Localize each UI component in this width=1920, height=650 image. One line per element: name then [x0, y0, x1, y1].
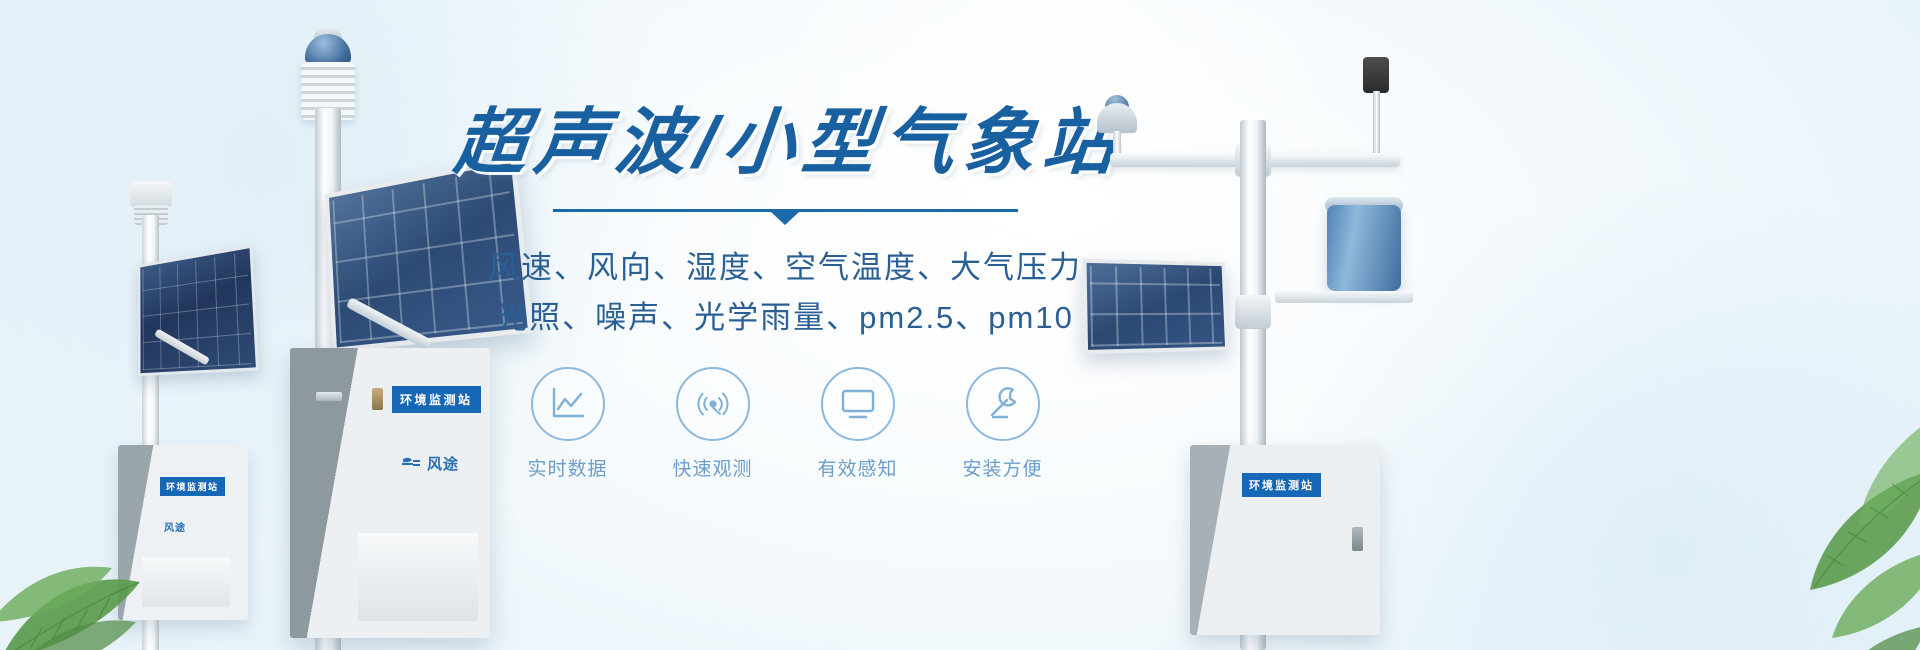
fengtu-logo-icon	[400, 456, 422, 471]
feature-label: 实时数据	[513, 454, 623, 481]
line-chart-icon	[548, 385, 588, 423]
feature-list: 实时数据 快速观测	[455, 367, 1115, 481]
monitor-icon	[838, 387, 878, 421]
feature-icon-circle	[676, 367, 750, 441]
feature-label: 安装方便	[948, 454, 1058, 481]
station-name-tag: 环境监测站	[1242, 473, 1321, 497]
feature-icon-circle	[966, 367, 1040, 441]
leaf-decoration-left	[0, 450, 220, 650]
subtitle-line-1: 风速、风向、湿度、空气温度、大气压力	[455, 243, 1115, 293]
feature-item-realtime-data[interactable]: 实时数据	[513, 367, 623, 481]
ultrasonic-wind-sensor-icon	[1097, 103, 1137, 133]
leaf-decoration-right	[1660, 400, 1920, 650]
weather-station-right: 环境监测站	[1075, 45, 1495, 650]
chevron-down-icon	[771, 212, 799, 225]
product-banner: 环境监测站 风途 环境监测站 风途	[0, 0, 1920, 650]
page-title: 超声波/小型气象站	[451, 104, 1119, 183]
cabinet-handle	[316, 392, 342, 401]
subtitle-line-2: 光照、噪声、光学雨量、pm2.5、pm10	[455, 293, 1115, 343]
leaf-icon	[1660, 400, 1920, 650]
equipment-shelf	[1275, 291, 1413, 303]
feature-item-fast-observation[interactable]: 快速观测	[658, 367, 768, 481]
wind-vane-stem	[1373, 91, 1380, 157]
cabinet-latch	[1352, 527, 1363, 551]
banner-text-block: 超声波/小型气象站 风速、风向、湿度、空气温度、大气压力 光照、噪声、光学雨量、…	[455, 104, 1115, 481]
title-divider	[553, 209, 1018, 225]
sensor-head-icon	[130, 181, 172, 207]
leaf-icon	[0, 450, 220, 650]
control-cabinet: 环境监测站	[1190, 445, 1380, 635]
solar-panel	[1082, 259, 1228, 355]
feature-item-effective-sensing[interactable]: 有效感知	[803, 367, 913, 481]
feature-label: 有效感知	[803, 454, 913, 481]
wrench-icon	[983, 384, 1023, 424]
feature-label: 快速观测	[658, 454, 768, 481]
radar-signal-icon	[693, 384, 733, 424]
brand-logo: 风途	[400, 453, 459, 474]
wind-vane-icon	[1363, 57, 1389, 93]
mast-collar-mid	[1235, 295, 1271, 329]
cabinet-latch	[372, 388, 383, 410]
feature-icon-circle	[531, 367, 605, 441]
cabinet-lower-panel	[358, 533, 478, 621]
feature-item-easy-install[interactable]: 安装方便	[948, 367, 1058, 481]
total-radiation-sensor-icon	[305, 34, 351, 64]
feature-icon-circle	[821, 367, 895, 441]
rain-gauge-icon	[1327, 205, 1401, 291]
